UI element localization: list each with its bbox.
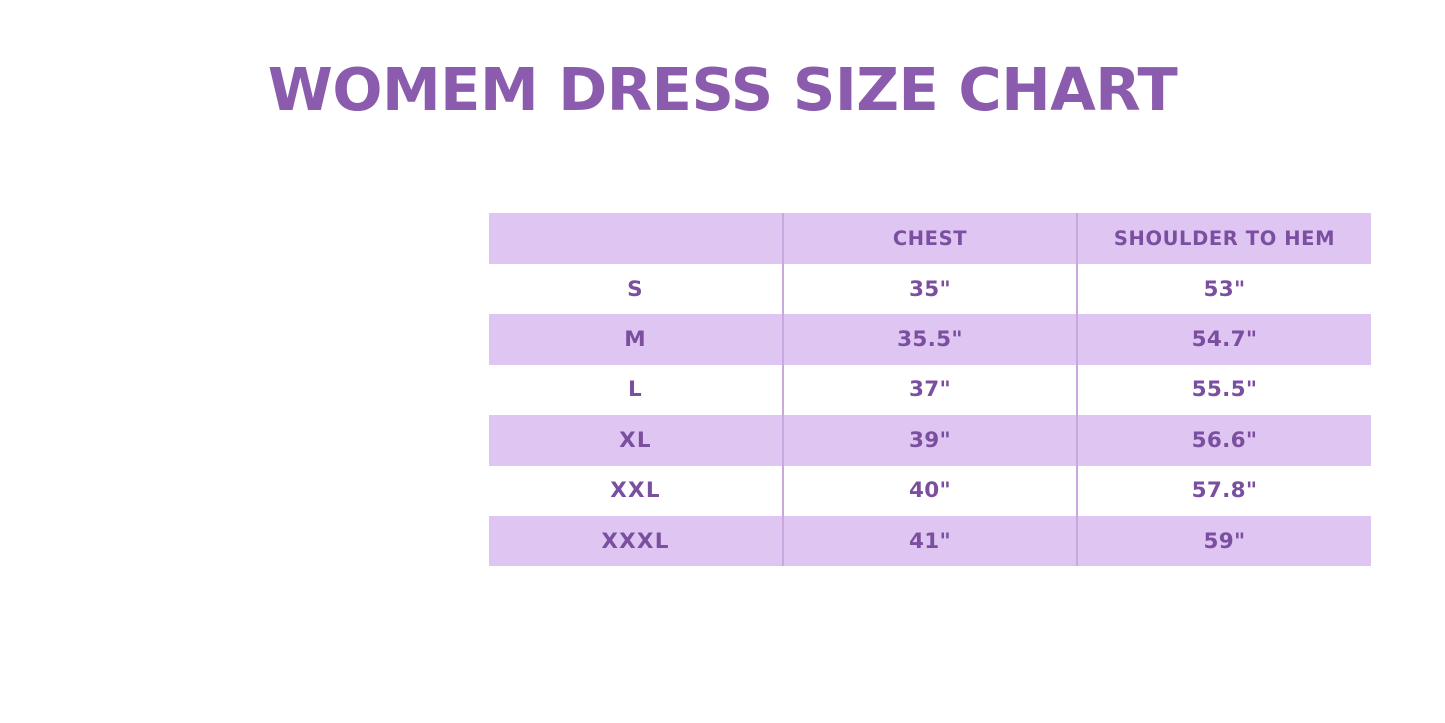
page-title: WOMEM DRESS SIZE CHART <box>0 58 1445 122</box>
column-header-shoulder-to-hem: SHOULDER TO HEM <box>1077 213 1371 264</box>
cell-shoulder-to-hem: 59" <box>1077 516 1371 566</box>
cell-shoulder-to-hem: 54.7" <box>1077 314 1371 364</box>
table-row: XL 39" 56.6" <box>489 415 1371 465</box>
size-chart-table-container: CHEST SHOULDER TO HEM S 35" 53" M 35.5" … <box>489 213 1371 566</box>
size-chart-table: CHEST SHOULDER TO HEM S 35" 53" M 35.5" … <box>489 213 1371 566</box>
column-header-size <box>489 213 783 264</box>
cell-chest: 41" <box>783 516 1077 566</box>
cell-chest: 35.5" <box>783 314 1077 364</box>
cell-shoulder-to-hem: 57.8" <box>1077 466 1371 516</box>
cell-shoulder-to-hem: 53" <box>1077 264 1371 314</box>
cell-size: S <box>489 264 783 314</box>
table-header-row: CHEST SHOULDER TO HEM <box>489 213 1371 264</box>
table-row: XXL 40" 57.8" <box>489 466 1371 516</box>
cell-chest: 37" <box>783 365 1077 415</box>
cell-size: XL <box>489 415 783 465</box>
cell-size: M <box>489 314 783 364</box>
cell-shoulder-to-hem: 56.6" <box>1077 415 1371 465</box>
table-row: XXXL 41" 59" <box>489 516 1371 566</box>
table-body: S 35" 53" M 35.5" 54.7" L 37" 55.5" XL 3… <box>489 264 1371 566</box>
table-row: S 35" 53" <box>489 264 1371 314</box>
table-header: CHEST SHOULDER TO HEM <box>489 213 1371 264</box>
size-chart-page: WOMEM DRESS SIZE CHART CHEST SHOULDER TO… <box>0 0 1445 723</box>
cell-size: L <box>489 365 783 415</box>
table-row: M 35.5" 54.7" <box>489 314 1371 364</box>
cell-chest: 39" <box>783 415 1077 465</box>
cell-size: XXXL <box>489 516 783 566</box>
cell-shoulder-to-hem: 55.5" <box>1077 365 1371 415</box>
table-row: L 37" 55.5" <box>489 365 1371 415</box>
cell-chest: 40" <box>783 466 1077 516</box>
cell-chest: 35" <box>783 264 1077 314</box>
column-header-chest: CHEST <box>783 213 1077 264</box>
cell-size: XXL <box>489 466 783 516</box>
